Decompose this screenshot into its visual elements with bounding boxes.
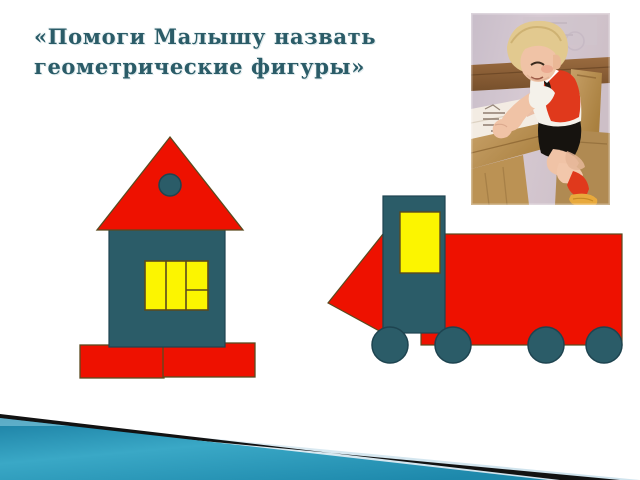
house-window-rectangle xyxy=(145,261,208,310)
house-roof-circle xyxy=(159,174,181,196)
train-wheel-3 xyxy=(528,327,564,363)
train-cabin-window-rectangle xyxy=(400,212,440,273)
train-figure xyxy=(328,196,622,363)
train-wheel-2 xyxy=(435,327,471,363)
slide-canvas: «Помоги Малышу назвать геометрические фи… xyxy=(0,0,640,480)
train-nose-triangle xyxy=(328,234,383,333)
train-wheel-4 xyxy=(586,327,622,363)
house-base-rectangle-right xyxy=(163,343,255,377)
house-figure xyxy=(80,137,255,378)
house-base-rectangle-left xyxy=(80,345,164,378)
train-wheel-1 xyxy=(372,327,408,363)
bottom-diagonal-decoration xyxy=(0,400,640,480)
